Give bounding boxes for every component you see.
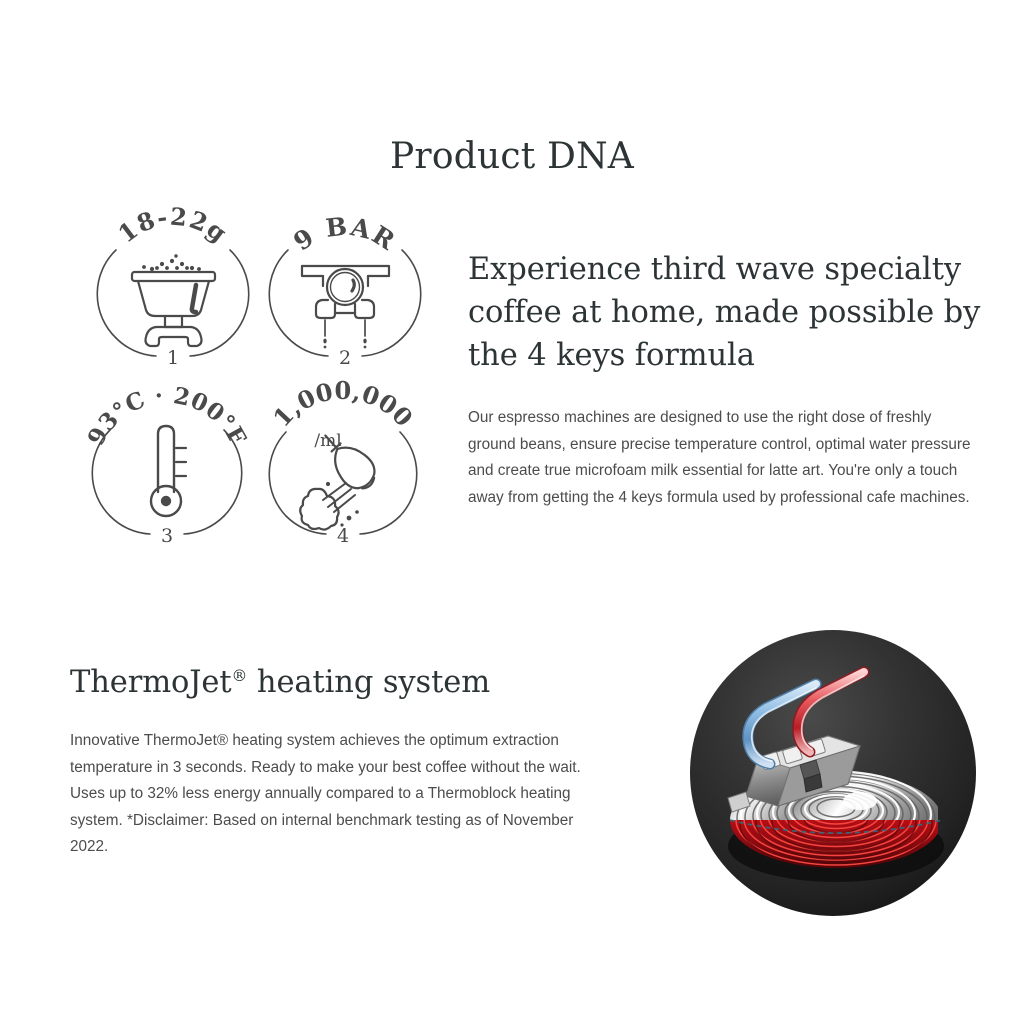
- dna-body-text: Our espresso machines are designed to us…: [468, 405, 976, 511]
- thermojet-heading: ThermoJet® heating system: [70, 665, 615, 700]
- dna-badge-3: 93°C · 200°F 3: [80, 368, 255, 548]
- thermojet-copy-block: ThermoJet® heating system Innovative The…: [70, 665, 615, 861]
- thermojet-heating-element-cutaway: [688, 628, 978, 918]
- dna-badge-2: 9 BAR: [258, 190, 433, 370]
- dna-badge-grid: 18-22g: [78, 190, 428, 560]
- dna-badge-1: 18-22g: [86, 190, 261, 370]
- microfoam-cloud-icon: [300, 489, 338, 530]
- dna-badge-2-arc-label: 9 BAR: [288, 212, 401, 257]
- dna-heading: Experience third wave specialty coffee a…: [468, 248, 983, 377]
- dna-badge-4-number: 4: [337, 525, 349, 547]
- thermojet-heading-rest: heating system: [247, 665, 490, 700]
- dna-badge-3-number: 3: [161, 525, 173, 547]
- dna-badge-4-arc-label: 1,000,000: [267, 376, 419, 432]
- dna-badge-4: 1,000,000 /ml: [256, 368, 431, 548]
- dna-badge-2-number: 2: [339, 347, 351, 369]
- registered-trademark-icon: ®: [232, 666, 248, 685]
- thermojet-section: ThermoJet® heating system Innovative The…: [0, 600, 1024, 1000]
- thermojet-heading-main: ThermoJet: [70, 665, 232, 700]
- espresso-stream-lines: [325, 320, 365, 336]
- dna-badge-3-arc-label: 93°C · 200°F: [82, 382, 251, 450]
- dna-badge-1-arc-label: 18-22g: [113, 202, 234, 249]
- product-dna-section: 18-22g: [0, 190, 1024, 570]
- dna-badge-1-number: 1: [167, 347, 179, 369]
- group-head-pressure-icon: [302, 266, 389, 318]
- coffee-grounds-dots: [142, 254, 201, 271]
- thermojet-figure: [688, 628, 978, 918]
- page-title: Product DNA: [0, 136, 1024, 177]
- thermometer-bulb: [161, 496, 171, 506]
- thermojet-body-text: Innovative ThermoJet® heating system ach…: [70, 728, 610, 861]
- dna-copy-block: Experience third wave specialty coffee a…: [468, 248, 983, 511]
- portafilter-basket-icon: [132, 272, 215, 346]
- thermometer-scale-marks: [176, 448, 186, 476]
